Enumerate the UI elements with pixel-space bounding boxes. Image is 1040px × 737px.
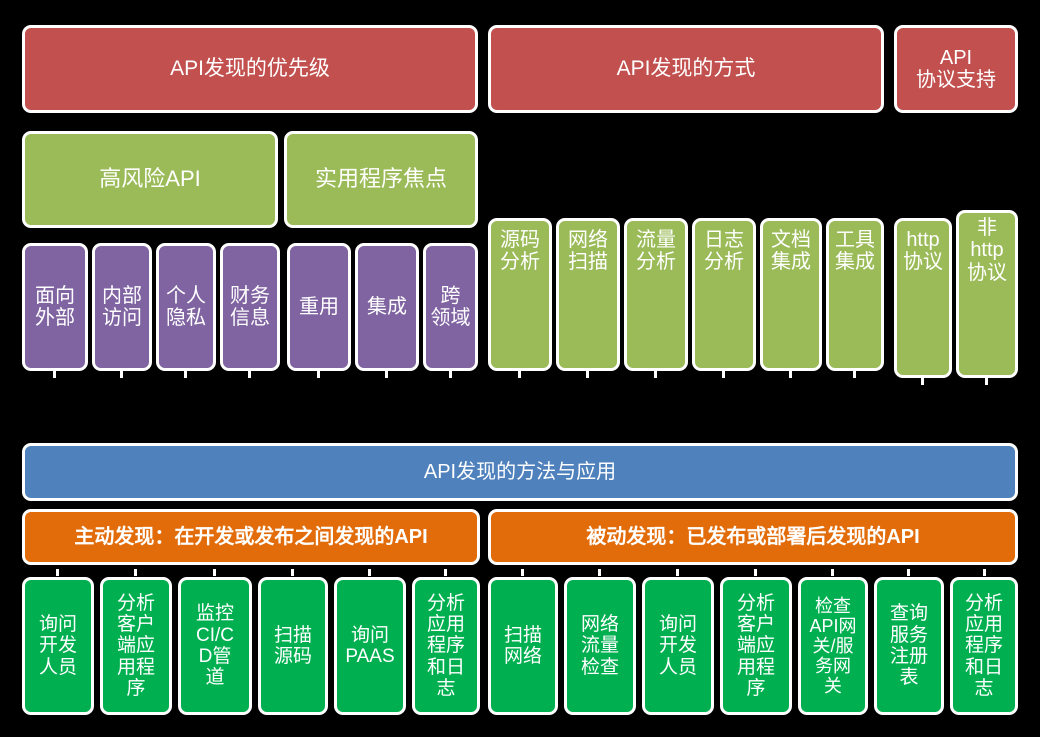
connector-tick — [985, 378, 988, 385]
connector-tick — [676, 569, 679, 576]
connector-tick — [291, 569, 294, 576]
passive-item: 检查 API网 关/服 务网 关 — [798, 577, 868, 715]
connector-tick — [598, 569, 601, 576]
priority-item-label: 跨 领域 — [428, 285, 474, 330]
connector-tick — [754, 569, 757, 576]
band-active-discovery-label: 主动发现：在开发或发布之间发现的API — [71, 526, 430, 548]
method-item-label: 源码 分析 — [497, 229, 543, 274]
priority-item: 财务 信息 — [220, 243, 280, 371]
connector-tick — [518, 371, 521, 378]
passive-item: 网络 流量 检查 — [564, 577, 636, 715]
section-title-methods-and-apps-label: API发现的方法与应用 — [421, 461, 619, 483]
section-title-methods-label: API发现的方式 — [614, 57, 759, 81]
priority-subhead-utility-focus-label: 实用程序焦点 — [312, 167, 450, 192]
active-item: 监控 CI/C D管 道 — [178, 577, 252, 715]
connector-tick — [722, 371, 725, 378]
section-title-methods-and-apps: API发现的方法与应用 — [22, 443, 1018, 501]
priority-subhead-high-risk: 高风险API — [22, 131, 278, 228]
method-item: 日志 分析 — [692, 218, 756, 371]
connector-tick — [385, 371, 388, 378]
protocol-item-label: 非 http 协议 — [964, 217, 1010, 284]
section-title-methods: API发现的方式 — [488, 25, 884, 113]
connector-tick — [907, 569, 910, 576]
active-item: 询问 开发 人员 — [22, 577, 94, 715]
priority-item-label: 个人 隐私 — [163, 285, 209, 330]
priority-item-label: 集成 — [364, 296, 410, 318]
connector-tick — [184, 371, 187, 378]
method-item-label: 文档 集成 — [768, 229, 814, 274]
section-title-priority: API发现的优先级 — [22, 25, 478, 113]
priority-item: 跨 领域 — [423, 243, 478, 371]
method-item: 源码 分析 — [488, 218, 552, 371]
priority-item: 个人 隐私 — [156, 243, 216, 371]
connector-tick — [317, 371, 320, 378]
active-item-label: 监控 CI/C D管 道 — [193, 603, 237, 688]
passive-item: 分析 应用 程序 和日 志 — [950, 577, 1018, 715]
connector-tick — [853, 371, 856, 378]
connector-tick — [654, 371, 657, 378]
protocol-item: http 协议 — [894, 218, 952, 378]
priority-item: 内部 访问 — [92, 243, 152, 371]
passive-item: 询问 开发 人员 — [642, 577, 714, 715]
connector-tick — [120, 371, 123, 378]
connector-tick — [921, 378, 924, 385]
band-passive-discovery-label: 被动发现：已发布或部署后发现的API — [583, 526, 922, 548]
passive-item: 查询 服务 注册 表 — [874, 577, 944, 715]
active-item: 分析 应用 程序 和日 志 — [412, 577, 480, 715]
connector-tick — [444, 569, 447, 576]
passive-item-label: 询问 开发 人员 — [656, 614, 700, 678]
connector-tick — [449, 371, 452, 378]
passive-item-label: 检查 API网 关/服 务网 关 — [806, 596, 859, 697]
priority-item: 重用 — [287, 243, 351, 371]
passive-item-label: 网络 流量 检查 — [578, 614, 622, 678]
diagram-root: API发现的优先级 API发现的方式 API 协议支持 高风险API 实用程序焦… — [0, 0, 1040, 737]
section-title-protocols-label: API 协议支持 — [913, 47, 999, 92]
connector-tick — [831, 569, 834, 576]
connector-tick — [983, 569, 986, 576]
priority-item: 面向 外部 — [22, 243, 88, 371]
protocol-item: 非 http 协议 — [956, 210, 1018, 378]
active-item-label: 分析 客户 端应 用程 序 — [114, 593, 158, 699]
protocol-item-label: http 协议 — [900, 229, 946, 274]
band-passive-discovery: 被动发现：已发布或部署后发现的API — [488, 509, 1018, 565]
priority-item: 集成 — [355, 243, 419, 371]
connector-tick — [586, 371, 589, 378]
method-item: 工具 集成 — [826, 218, 884, 371]
section-title-protocols: API 协议支持 — [894, 25, 1018, 113]
priority-item-label: 重用 — [296, 296, 342, 318]
section-title-priority-label: API发现的优先级 — [167, 57, 333, 81]
priority-item-label: 内部 访问 — [99, 285, 145, 330]
method-item-label: 流量 分析 — [633, 229, 679, 274]
connector-tick — [789, 371, 792, 378]
active-item-label: 扫描 源码 — [271, 625, 315, 668]
connector-tick — [213, 569, 216, 576]
passive-item: 扫描 网络 — [488, 577, 558, 715]
connector-tick — [56, 569, 59, 576]
connector-tick — [248, 371, 251, 378]
connector-tick — [521, 569, 524, 576]
priority-item-label: 财务 信息 — [227, 285, 273, 330]
priority-item-label: 面向 外部 — [32, 285, 78, 330]
active-item: 扫描 源码 — [258, 577, 328, 715]
priority-subhead-high-risk-label: 高风险API — [96, 167, 203, 192]
passive-item-label: 查询 服务 注册 表 — [887, 603, 931, 688]
priority-subhead-utility-focus: 实用程序焦点 — [284, 131, 478, 228]
passive-item-label: 分析 应用 程序 和日 志 — [962, 593, 1006, 699]
method-item: 网络 扫描 — [556, 218, 620, 371]
active-item: 询问 PAAS — [334, 577, 406, 715]
connector-tick — [53, 371, 56, 378]
method-item: 流量 分析 — [624, 218, 688, 371]
active-item: 分析 客户 端应 用程 序 — [100, 577, 172, 715]
method-item-label: 日志 分析 — [701, 229, 747, 274]
active-item-label: 询问 开发 人员 — [36, 614, 80, 678]
active-item-label: 询问 PAAS — [342, 625, 397, 668]
connector-tick — [368, 569, 371, 576]
active-item-label: 分析 应用 程序 和日 志 — [424, 593, 468, 699]
band-active-discovery: 主动发现：在开发或发布之间发现的API — [22, 509, 480, 565]
passive-item-label: 扫描 网络 — [501, 625, 545, 668]
method-item: 文档 集成 — [760, 218, 822, 371]
method-item-label: 工具 集成 — [832, 229, 878, 274]
connector-tick — [134, 569, 137, 576]
method-item-label: 网络 扫描 — [565, 229, 611, 274]
passive-item-label: 分析 客户 端应 用程 序 — [734, 593, 778, 699]
passive-item: 分析 客户 端应 用程 序 — [720, 577, 792, 715]
